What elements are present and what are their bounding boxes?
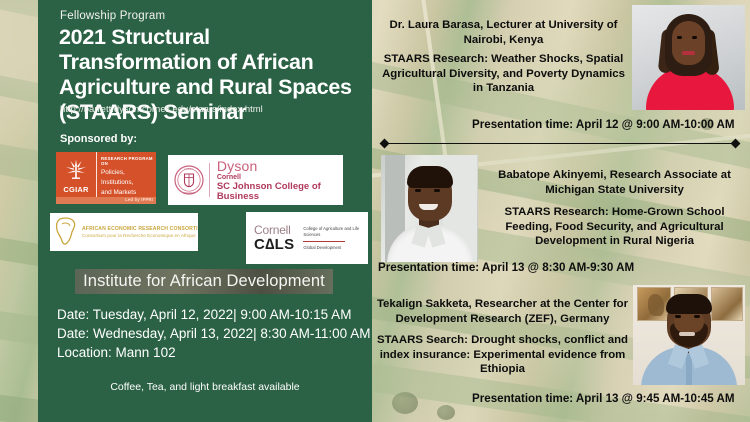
section-divider — [381, 141, 739, 146]
photo-hair — [407, 166, 453, 188]
dyson-wordmark: Dyson — [217, 159, 337, 174]
photo-eye-left — [415, 189, 421, 192]
cornell-seal-icon: CORNELL UNIVERSITY — [174, 165, 204, 195]
logo-cornell-cals: Cornell C∆LS College of Agriculture and … — [246, 212, 368, 264]
cgiar-line-1: Policies, — [101, 169, 153, 177]
logo-dyson-cornell: CORNELL UNIVERSITY Dyson Cornell SC John… — [168, 155, 343, 205]
photo-mouth — [419, 204, 438, 210]
speaker-2-photo — [381, 155, 478, 262]
speaker-1-name: Dr. Laura Barasa, Lecturer at University… — [377, 18, 630, 47]
photo-mouth — [682, 51, 695, 55]
svg-text:CORNELL: CORNELL — [184, 169, 194, 171]
speakers-area: Dr. Laura Barasa, Lecturer at University… — [372, 0, 750, 422]
cgiar-wordmark: CGIAR — [63, 185, 88, 194]
wall-art-3 — [711, 287, 743, 321]
speaker-3-time: Presentation time: April 13 @ 9:45 AM-10… — [472, 392, 747, 407]
speaker-1-photo — [632, 5, 745, 110]
cals-college-line: College of Agriculture and Life Sciences — [303, 226, 360, 238]
speaker-1-time: Presentation time: April 12 @ 9:00 AM-10… — [472, 118, 747, 133]
cals-rule — [303, 241, 345, 242]
photo-eye-right — [692, 36, 697, 39]
institute-for-african-development-banner: Institute for African Development — [75, 269, 333, 294]
seminar-poster: Fellowship Program 2021 Structural Trans… — [0, 0, 750, 422]
cgiar-emblem-icon — [64, 158, 88, 180]
speaker-1-research: STAARS Research: Weather Shocks, Spatial… — [377, 52, 630, 96]
aerc-name-en: AFRICAN ECONOMIC RESEARCH CONSORTIUM — [82, 226, 198, 232]
event-details: Date: Tuesday, April 12, 2022| 9:00 AM-1… — [57, 305, 377, 362]
seminar-url[interactable]: http://barrett.dyson.cornell.edu/staars/… — [60, 104, 263, 115]
cals-wordmark: C∆LS — [254, 237, 294, 252]
date-line-2: Date: Wednesday, April 13, 2022| 8:30 AM… — [57, 324, 377, 343]
left-info-panel: Fellowship Program 2021 Structural Trans… — [38, 0, 372, 422]
dyson-college-label: SC Johnson College of Business — [217, 182, 337, 202]
photo-eye-right — [434, 189, 440, 192]
cgiar-line-2: Institutions, — [101, 179, 153, 187]
cals-cornell-wordmark: Cornell — [254, 224, 294, 236]
aerc-name-fr: Consortium pour la Recherche Economique … — [82, 233, 198, 238]
location-line: Location: Mann 102 — [57, 343, 377, 362]
photo-eye-left — [677, 36, 682, 39]
logo-divider — [209, 163, 210, 197]
speaker-2-research: STAARS Research: Home-Grown School Feedi… — [487, 205, 742, 249]
photo-eye-right — [694, 315, 700, 318]
speaker-3-photo — [633, 285, 745, 385]
cals-global-dev-line: Global Development — [303, 245, 360, 250]
speaker-3-research: STAARS Search: Drought shocks, conflict … — [376, 333, 629, 377]
photo-eye-left — [675, 315, 681, 318]
photo-mouth — [679, 332, 695, 336]
svg-text:UNIVERSITY: UNIVERSITY — [183, 192, 196, 194]
wall-art-map — [648, 294, 664, 316]
divider-diamond-right — [731, 139, 741, 149]
refreshments-note: Coffee, Tea, and light breakfast availab… — [38, 381, 372, 393]
speaker-2-time: Presentation time: April 13 @ 8:30 AM-9:… — [378, 261, 678, 276]
divider-line — [386, 143, 734, 145]
speaker-3-name: Tekalign Sakketa, Researcher at the Cent… — [376, 297, 629, 326]
cgiar-program-header: RESEARCH PROGRAM ON — [101, 156, 153, 167]
speaker-2-name: Babatope Akinyemi, Research Associate at… — [487, 168, 742, 197]
sponsored-by-label: Sponsored by: — [60, 133, 137, 145]
date-line-1: Date: Tuesday, April 12, 2022| 9:00 AM-1… — [57, 305, 377, 324]
fellowship-program-label: Fellowship Program — [60, 10, 165, 22]
cgiar-led-by-note: Led by IFPRI — [125, 197, 153, 202]
logo-aerc: AFRICAN ECONOMIC RESEARCH CONSORTIUM Con… — [50, 213, 198, 251]
photo-face — [672, 21, 705, 65]
photo-hair — [666, 294, 712, 314]
africa-map-icon — [52, 216, 82, 248]
logo-cgiar-pim: CGIAR RESEARCH PROGRAM ON Policies, Inst… — [56, 152, 156, 204]
